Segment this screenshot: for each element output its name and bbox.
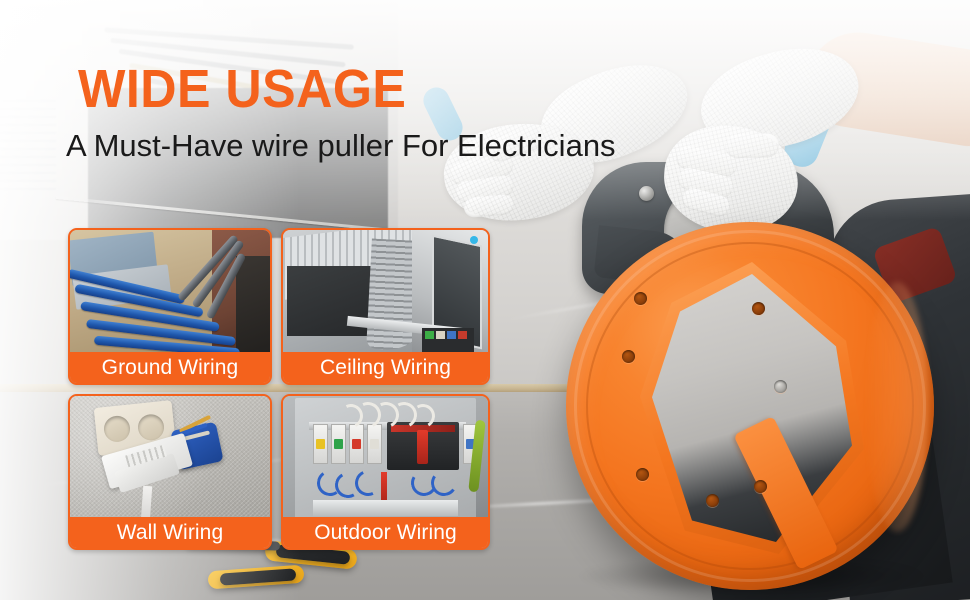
use-case-label: Wall Wiring: [70, 517, 270, 548]
thumbnail-ceiling-wiring: [283, 230, 488, 356]
use-case-card-ceiling[interactable]: Ceiling Wiring: [281, 228, 490, 385]
ceiling-terminal-block: [422, 328, 474, 352]
use-case-label: Outdoor Wiring: [283, 517, 488, 548]
use-case-card-outdoor[interactable]: Outdoor Wiring: [281, 394, 490, 550]
use-case-grid: Ground Wiring Ceiling Wiring: [0, 0, 970, 600]
use-case-label: Ceiling Wiring: [283, 352, 488, 383]
thumbnail-ground-wiring: [70, 230, 270, 356]
use-case-card-wall[interactable]: Wall Wiring: [68, 394, 272, 550]
thumbnail-outdoor-wiring: [283, 396, 488, 522]
thumbnail-wall-wiring: [70, 396, 270, 522]
use-case-card-ground[interactable]: Ground Wiring: [68, 228, 272, 385]
use-case-label: Ground Wiring: [70, 352, 270, 383]
promo-banner: WIDE USAGE A Must-Have wire puller For E…: [0, 0, 970, 600]
